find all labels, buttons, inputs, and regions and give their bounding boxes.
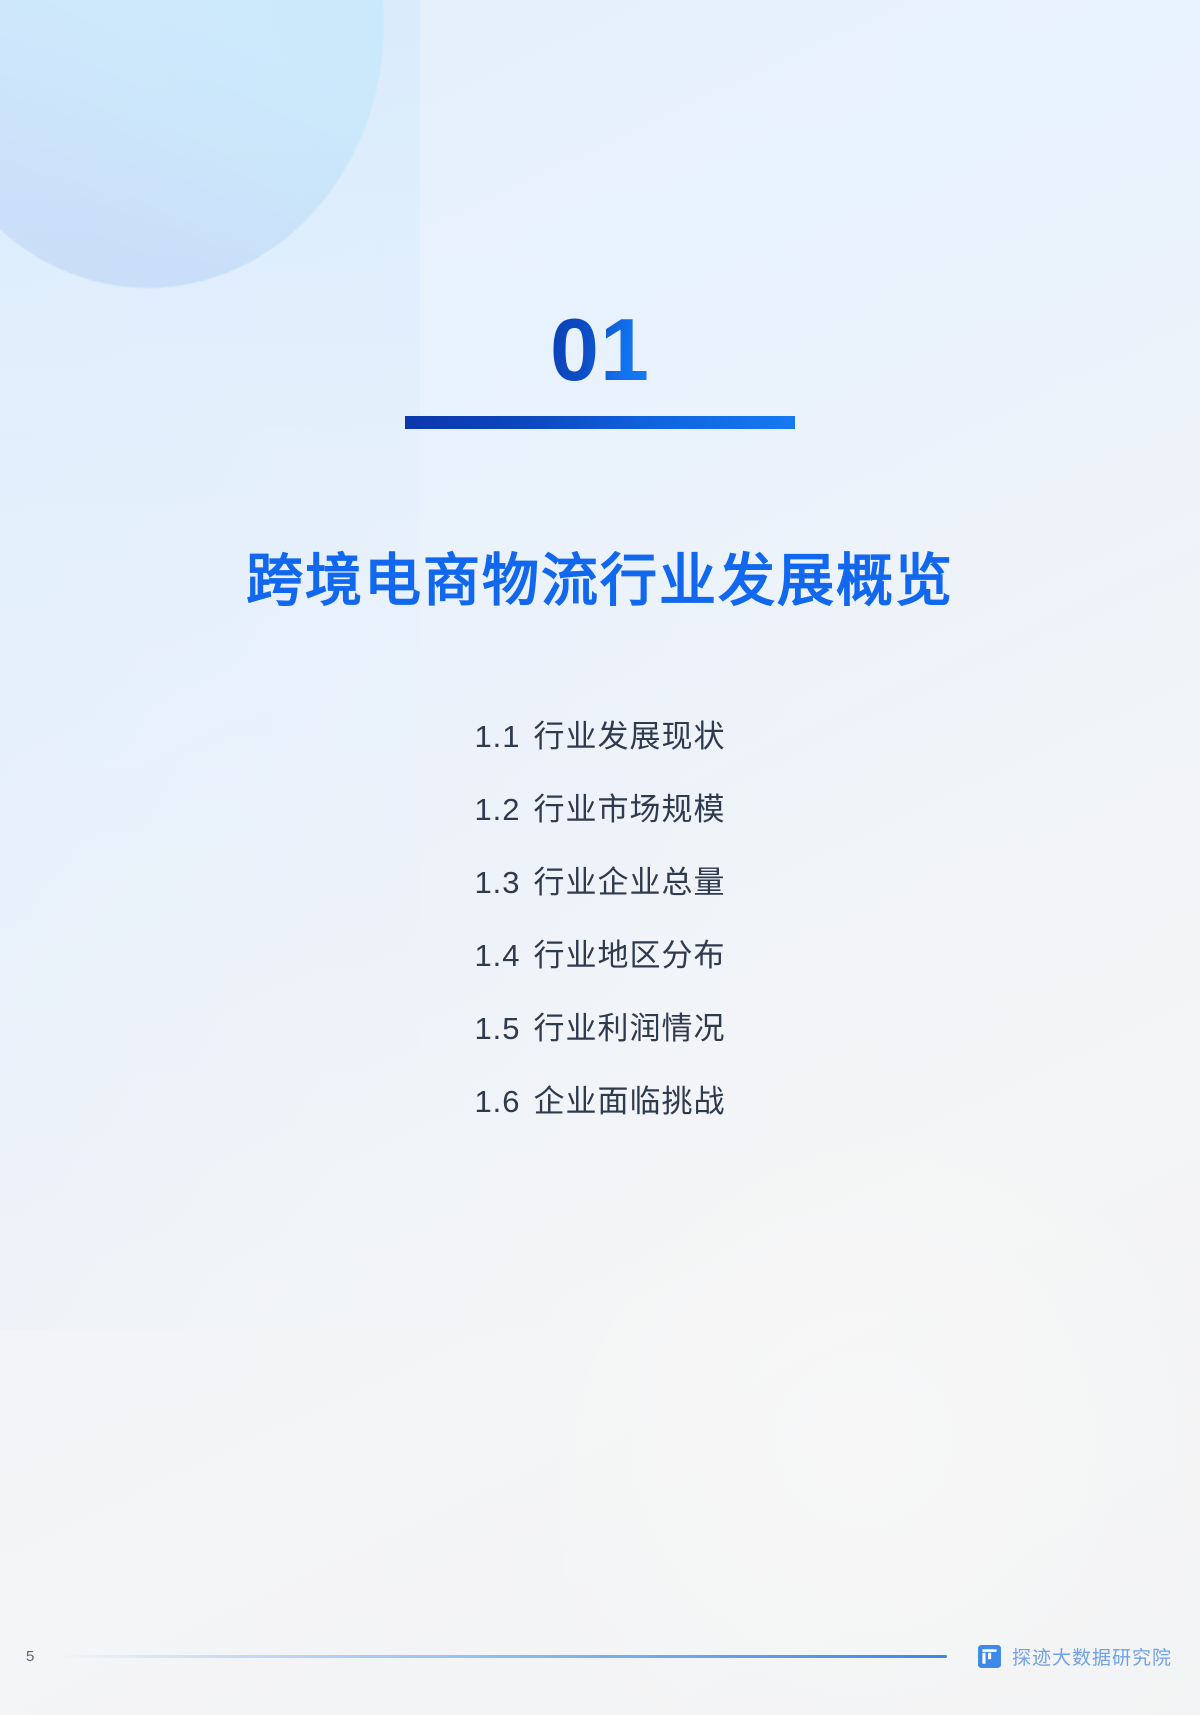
section-number-underline xyxy=(405,416,795,429)
section-number: 01 xyxy=(550,306,650,394)
page-number: 5 xyxy=(26,1648,52,1665)
decorative-circle-top-left xyxy=(0,0,384,288)
toc-item-number: 1.5 xyxy=(474,1013,520,1044)
toc-item-label: 企业面临挑战 xyxy=(534,1086,726,1117)
toc-item-1[interactable]: 1.1 行业发展现状 xyxy=(474,700,725,773)
toc-item-3[interactable]: 1.3 行业企业总量 xyxy=(474,846,725,919)
slide-page: 01 跨境电商物流行业发展概览 1.1 行业发展现状 1.2 行业市场规模 1.… xyxy=(0,0,1200,1715)
section-number-block: 01 xyxy=(0,306,1200,429)
footer-brand: 探迹大数据研究院 xyxy=(977,1643,1172,1670)
toc-item-label: 行业地区分布 xyxy=(534,940,726,971)
toc-item-number: 1.4 xyxy=(474,940,520,971)
toc-item-number: 1.2 xyxy=(474,794,520,825)
table-of-contents: 1.1 行业发展现状 1.2 行业市场规模 1.3 行业企业总量 1.4 行业地… xyxy=(0,700,1200,1138)
toc-item-label: 行业利润情况 xyxy=(534,1013,726,1044)
toc-item-number: 1.1 xyxy=(474,721,520,752)
toc-item-label: 行业发展现状 xyxy=(534,721,726,752)
toc-item-label: 行业市场规模 xyxy=(534,794,726,825)
page-footer: 5 探迹大数据研究院 xyxy=(0,1639,1200,1673)
tanji-logo-icon xyxy=(977,1644,1002,1669)
toc-item-label: 行业企业总量 xyxy=(534,867,726,898)
toc-item-2[interactable]: 1.2 行业市场规模 xyxy=(474,773,725,846)
decorative-gradient-bottom-right xyxy=(560,1135,1200,1715)
page-title: 跨境电商物流行业发展概览 xyxy=(0,548,1200,615)
footer-divider xyxy=(58,1655,947,1658)
toc-item-6[interactable]: 1.6 企业面临挑战 xyxy=(474,1065,725,1138)
brand-name: 探迹大数据研究院 xyxy=(1012,1643,1172,1670)
toc-item-5[interactable]: 1.5 行业利润情况 xyxy=(474,992,725,1065)
toc-item-number: 1.6 xyxy=(474,1086,520,1117)
toc-item-4[interactable]: 1.4 行业地区分布 xyxy=(474,919,725,992)
toc-item-number: 1.3 xyxy=(474,867,520,898)
